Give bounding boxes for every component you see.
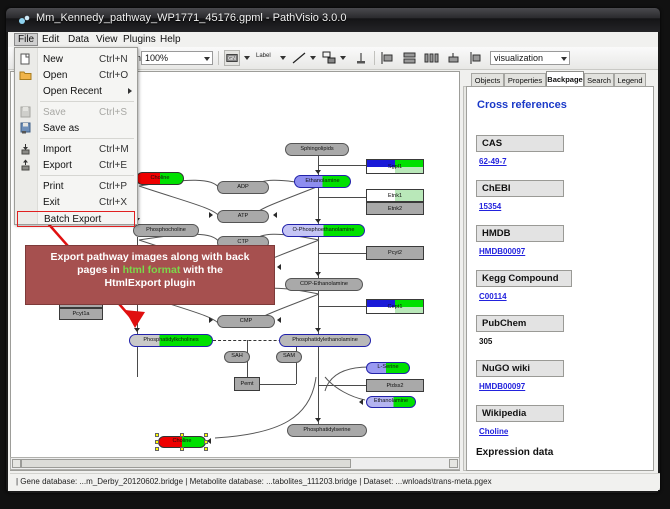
xref-value-kegg[interactable]: C00114 <box>479 292 507 301</box>
menu-item-accel: Ctrl+P <box>99 181 127 192</box>
node-ethanolamine-bottom[interactable]: Ethanolamine <box>366 396 416 408</box>
align-left-tool-icon[interactable] <box>380 51 395 65</box>
menu-item-new[interactable]: New Ctrl+N <box>15 51 137 67</box>
node-phosphatidylethanolamine[interactable]: Phosphatidylethanolamine <box>279 334 371 347</box>
gene-label: Etnk1 <box>367 190 423 201</box>
gene-etnk1[interactable]: Etnk1 <box>366 189 424 202</box>
datanode-tool-button[interactable]: GN <box>224 50 240 66</box>
selection-handle[interactable] <box>155 433 159 437</box>
menu-file[interactable]: File <box>14 33 38 46</box>
menu-item-label: Save as <box>43 123 79 134</box>
menu-bar: File Edit Data View Plugins Help <box>8 32 658 48</box>
node-sah[interactable]: SAH <box>224 351 250 363</box>
xref-header-hmdb: HMDB <box>476 225 564 242</box>
node-cmp[interactable]: CMP <box>217 315 275 328</box>
xref-header-chebi: ChEBI <box>476 180 564 197</box>
gene-label: Etnk2 <box>367 203 423 214</box>
xref-value-chebi[interactable]: 15354 <box>479 202 501 211</box>
annotation-highlight: html format <box>123 264 181 276</box>
xref-header-pubchem: PubChem <box>476 315 564 332</box>
expression-data-title: Expression data <box>476 447 553 458</box>
gene-label: Sgpl1 <box>367 160 423 173</box>
menu-item-exit[interactable]: Exit Ctrl+X <box>15 194 137 210</box>
line-dropdown-arrow[interactable] <box>310 56 316 60</box>
zoom-combobox[interactable]: 100% <box>141 51 213 65</box>
xref-header-cas: CAS <box>476 135 564 152</box>
menu-separator <box>40 138 134 139</box>
menu-plugins[interactable]: Plugins <box>119 34 160 45</box>
save-icon <box>19 106 32 118</box>
menu-item-label: Open Recent <box>43 86 102 97</box>
label-tool-label[interactable]: Label <box>256 53 271 59</box>
common-size-tool-icon[interactable] <box>446 51 461 65</box>
annotation-line-1: Export pathway images along with back <box>30 251 270 264</box>
node-sphingolipids[interactable]: Sphingolipids <box>285 143 349 156</box>
menu-item-accel: Ctrl+S <box>99 107 127 118</box>
hscroll-thumb[interactable] <box>21 459 351 468</box>
menu-item-label: Import <box>43 144 71 155</box>
menu-item-import[interactable]: Import Ctrl+M <box>15 141 137 157</box>
chevron-down-icon <box>204 57 210 61</box>
menu-item-accel: Ctrl+N <box>99 54 128 65</box>
selection-handle[interactable] <box>204 440 208 444</box>
menu-item-export[interactable]: Export Ctrl+E <box>15 157 137 173</box>
menu-data[interactable]: Data <box>64 34 93 45</box>
gene-sgpl1[interactable]: Sgpl1 <box>366 159 424 174</box>
gene-label: Ptdss2 <box>367 380 423 391</box>
canvas-hscrollbar[interactable] <box>10 457 460 470</box>
menu-item-save: Save Ctrl+S <box>15 104 137 120</box>
backpage-content: Cross references CAS 62-49-7 ChEBI 15354… <box>466 86 654 471</box>
align-stack-tool-icon[interactable] <box>402 51 417 65</box>
menu-item-label: Open <box>43 70 67 81</box>
datanode-icon: GN <box>225 51 239 65</box>
menu-item-accel: Ctrl+O <box>99 70 128 81</box>
menu-item-save-as[interactable]: Save as <box>15 120 137 136</box>
menu-item-print[interactable]: Print Ctrl+P <box>15 178 137 194</box>
gene-label: Pcyt2 <box>367 247 423 259</box>
selection-handle[interactable] <box>204 433 208 437</box>
menu-item-open-recent[interactable]: Open Recent <box>15 83 137 99</box>
order-tool-icon[interactable] <box>468 51 483 65</box>
line-tool-icon[interactable] <box>292 52 306 64</box>
save-as-icon <box>19 122 32 134</box>
label-dropdown-arrow[interactable] <box>280 56 286 60</box>
node-phosphatidylserine[interactable]: Phosphatidylserine <box>287 424 367 437</box>
scroll-right-arrow[interactable] <box>449 459 458 468</box>
gene-label: Cept1 <box>367 300 423 313</box>
menu-item-label: New <box>43 54 63 65</box>
chevron-down-icon <box>561 57 567 61</box>
node-ethanolamine-top[interactable]: Ethanolamine <box>294 175 351 188</box>
gene-pemt[interactable]: Pemt <box>234 377 260 391</box>
gene-pcyt2[interactable]: Pcyt2 <box>366 246 424 260</box>
annotation-line-3: HtmlExport plugin <box>30 277 270 290</box>
menu-item-label: Print <box>43 181 64 192</box>
datanode-dropdown-arrow[interactable] <box>244 56 250 60</box>
anchor-tool-icon[interactable] <box>354 51 368 65</box>
chevron-right-icon <box>128 88 132 94</box>
export-icon <box>19 159 32 171</box>
shape-tool-icon[interactable] <box>322 51 336 65</box>
annotation-line-2-pre: pages in <box>77 264 123 276</box>
menu-separator <box>40 101 134 102</box>
selection-handle[interactable] <box>155 447 159 451</box>
shape-dropdown-arrow[interactable] <box>340 56 346 60</box>
menu-item-label: Export <box>43 160 72 171</box>
status-bar-text: | Gene database: ...m_Derby_20120602.bri… <box>16 477 492 486</box>
annotation-line-2-post: with the <box>180 264 223 276</box>
selection-handle[interactable] <box>180 447 184 451</box>
gene-cept1[interactable]: Cept1 <box>366 299 424 314</box>
menu-view[interactable]: View <box>92 34 122 45</box>
window-title: Mm_Kennedy_pathway_WP1771_45176.gpml - P… <box>36 12 346 24</box>
xref-value-pubchem: 305 <box>479 337 492 346</box>
side-panel-tabs: Objects Properties Backpage Search Legen… <box>463 71 656 86</box>
node-sam[interactable]: SAM <box>276 351 302 363</box>
tab-legend[interactable]: Legend <box>614 73 646 86</box>
gene-label: Pemt <box>235 378 259 390</box>
menu-item-accel: Ctrl+M <box>99 144 129 155</box>
xref-value-nugo[interactable]: HMDB00097 <box>479 382 525 391</box>
node-cdp-ethanolamine[interactable]: CDP-Ethanolamine <box>285 278 363 291</box>
menu-edit[interactable]: Edit <box>38 34 63 45</box>
menu-help[interactable]: Help <box>156 34 185 45</box>
distribute-tool-icon[interactable] <box>424 51 439 65</box>
pathvisio-icon <box>18 14 30 26</box>
xref-header-kegg: Kegg Compound <box>476 270 572 287</box>
menu-item-batch-export[interactable]: Batch Export <box>17 211 135 227</box>
import-icon <box>19 143 32 155</box>
gene-ptdss2[interactable]: Ptdss2 <box>366 379 424 392</box>
menu-item-label: Exit <box>43 197 60 208</box>
menu-separator <box>40 175 134 176</box>
side-panel: Objects Properties Backpage Search Legen… <box>463 71 656 471</box>
visualization-combobox[interactable]: visualization <box>490 51 570 65</box>
cross-references-title: Cross references <box>477 99 567 111</box>
node-o-phosphoethanolamine[interactable]: O-Phosphoethanolamine <box>282 224 365 237</box>
gene-etnk2[interactable]: Etnk2 <box>366 202 424 215</box>
open-folder-icon <box>19 69 32 81</box>
selection-handle[interactable] <box>204 447 208 451</box>
selection-handle[interactable] <box>180 433 184 437</box>
xref-value-wikipedia[interactable]: Choline <box>479 427 508 436</box>
xref-value-cas[interactable]: 62-49-7 <box>479 157 507 166</box>
annotation-callout: Export pathway images along with back pa… <box>25 245 275 305</box>
xref-header-wikipedia: Wikipedia <box>476 405 564 422</box>
node-atp[interactable]: ATP <box>217 210 269 223</box>
status-bar: | Gene database: ...m_Derby_20120602.bri… <box>10 473 660 490</box>
file-menu-popup[interactable]: New Ctrl+N Open Ctrl+O Open Recent Save … <box>14 47 138 225</box>
menu-item-open[interactable]: Open Ctrl+O <box>15 67 137 83</box>
tab-search[interactable]: Search <box>584 73 614 86</box>
xref-header-nugo: NuGO wiki <box>476 360 564 377</box>
tab-objects[interactable]: Objects <box>471 73 504 86</box>
screenshot-frame: Mm_Kennedy_pathway_WP1771_45176.gpml - P… <box>0 0 670 509</box>
menu-item-accel: Ctrl+X <box>99 197 127 208</box>
svg-text:GN: GN <box>228 56 236 62</box>
selection-handle[interactable] <box>155 440 159 444</box>
client-area: File Edit Data View Plugins Help Zoom: 1… <box>8 32 658 491</box>
annotation-line-2: pages in html format with the <box>30 264 270 277</box>
new-file-icon <box>19 53 32 65</box>
tab-properties[interactable]: Properties <box>504 73 546 86</box>
menu-item-label: Batch Export <box>44 214 101 225</box>
tab-backpage[interactable]: Backpage <box>546 71 584 86</box>
menu-item-accel: Ctrl+E <box>99 160 127 171</box>
application-window: Mm_Kennedy_pathway_WP1771_45176.gpml - P… <box>6 8 660 493</box>
node-l-serine[interactable]: L-Serine <box>366 362 410 374</box>
scroll-left-arrow[interactable] <box>12 459 21 468</box>
title-bar: Mm_Kennedy_pathway_WP1771_45176.gpml - P… <box>6 8 660 32</box>
xref-value-hmdb[interactable]: HMDB00097 <box>479 247 525 256</box>
zoom-value: 100% <box>145 53 168 63</box>
visualization-value: visualization <box>494 53 543 63</box>
node-adp[interactable]: ADP <box>217 181 269 194</box>
menu-item-label: Save <box>43 107 66 118</box>
